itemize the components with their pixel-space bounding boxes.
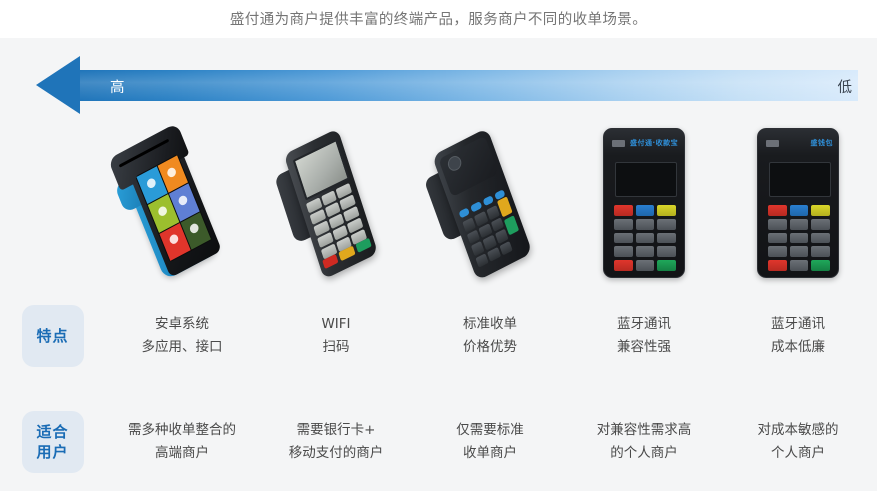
user-line-2: 高端商户 [105, 442, 259, 465]
product-cell-1[interactable] [105, 124, 259, 282]
user-line-2: 个人商户 [721, 442, 875, 465]
user-cell-5: 对成本敏感的 个人商户 [721, 419, 875, 465]
device-image-classic-pos-terminal [261, 124, 411, 282]
user-cell-3: 仅需要标准 收单商户 [413, 419, 567, 465]
user-line-1: 仅需要标准 [413, 419, 567, 442]
feature-line-1: 蓝牙通讯 [567, 313, 721, 336]
axis-label-low: 低 [838, 76, 853, 97]
row-cells-suitable-users: 需多种收单整合的 高端商户 需要银行卡+ 移动支付的商户 仅需要标准 收单商户 … [105, 419, 877, 465]
device-brand-text: 盛钱包 [811, 138, 834, 148]
device-keypad [768, 205, 830, 271]
device-screen [769, 162, 831, 197]
row-label-suitable-users: 适合 用户 [0, 411, 105, 473]
feature-line-2: 扫码 [259, 336, 413, 359]
device-screen [615, 162, 677, 197]
feature-cell-1: 安卓系统 多应用、接口 [105, 313, 259, 359]
axis-gradient-bar [75, 70, 858, 101]
user-line-2: 的个人商户 [567, 442, 721, 465]
page-title: 盛付通为商户提供丰富的终端产品，服务商户不同的收单场景。 [0, 8, 877, 29]
row-suitable-users: 适合 用户 需多种收单整合的 高端商户 需要银行卡+ 移动支付的商户 仅需要标准… [0, 402, 877, 482]
row-cells-features: 安卓系统 多应用、接口 WIFI 扫码 标准收单 价格优势 蓝牙通讯 兼容性强 … [105, 313, 877, 359]
feature-cell-4: 蓝牙通讯 兼容性强 [567, 313, 721, 359]
user-line-2: 移动支付的商户 [259, 442, 413, 465]
product-cell-2[interactable] [259, 124, 413, 282]
axis-label-high: 高 [110, 76, 125, 97]
user-line-1: 对兼容性需求高 [567, 419, 721, 442]
feature-cell-5: 蓝牙通讯 成本低廉 [721, 313, 875, 359]
device-image-bluetooth-mpos-keypad-b: 盛钱包 [757, 124, 839, 282]
device-keypad [614, 205, 676, 271]
feature-line-1: WIFI [259, 313, 413, 336]
user-cell-4: 对兼容性需求高 的个人商户 [567, 419, 721, 465]
user-line-1: 需多种收单整合的 [105, 419, 259, 442]
user-line-1: 需要银行卡+ [259, 419, 413, 442]
user-cell-1: 需多种收单整合的 高端商户 [105, 419, 259, 465]
device-brand-text: 盛付通·收款宝 [630, 138, 678, 148]
device-image-android-smart-pos [107, 124, 257, 282]
row-label-features: 特点 [0, 305, 105, 367]
device-image-black-pos-terminal [415, 124, 565, 282]
product-cell-3[interactable] [413, 124, 567, 282]
feature-line-1: 安卓系统 [105, 313, 259, 336]
feature-line-2: 多应用、接口 [105, 336, 259, 359]
price-axis-arrow: 高 低 [36, 56, 858, 114]
device-image-bluetooth-mpos-keypad-a: 盛付通·收款宝 [603, 124, 685, 282]
badge-suitable-users: 适合 用户 [22, 411, 84, 473]
badge-line-2: 用户 [36, 442, 68, 462]
device-brandmark-icon [612, 140, 625, 147]
device-brandmark-icon [766, 140, 779, 147]
user-line-2: 收单商户 [413, 442, 567, 465]
product-image-row: 盛付通·收款宝 [105, 124, 877, 282]
badge-features: 特点 [22, 305, 84, 367]
user-cell-2: 需要银行卡+ 移动支付的商户 [259, 419, 413, 465]
feature-line-2: 价格优势 [413, 336, 567, 359]
arrow-left-head-icon [36, 56, 80, 114]
feature-cell-2: WIFI 扫码 [259, 313, 413, 359]
feature-line-2: 兼容性强 [567, 336, 721, 359]
feature-cell-3: 标准收单 价格优势 [413, 313, 567, 359]
product-cell-4[interactable]: 盛付通·收款宝 [567, 124, 721, 282]
badge-line-1: 特点 [36, 326, 68, 346]
product-cell-5[interactable]: 盛钱包 [721, 124, 875, 282]
feature-line-1: 蓝牙通讯 [721, 313, 875, 336]
feature-line-2: 成本低廉 [721, 336, 875, 359]
badge-line-1: 适合 [36, 422, 68, 442]
feature-line-1: 标准收单 [413, 313, 567, 336]
row-features: 特点 安卓系统 多应用、接口 WIFI 扫码 标准收单 价格优势 蓝牙通讯 兼容… [0, 296, 877, 376]
product-comparison-page: 盛付通为商户提供丰富的终端产品，服务商户不同的收单场景。 高 低 [0, 0, 877, 491]
user-line-1: 对成本敏感的 [721, 419, 875, 442]
